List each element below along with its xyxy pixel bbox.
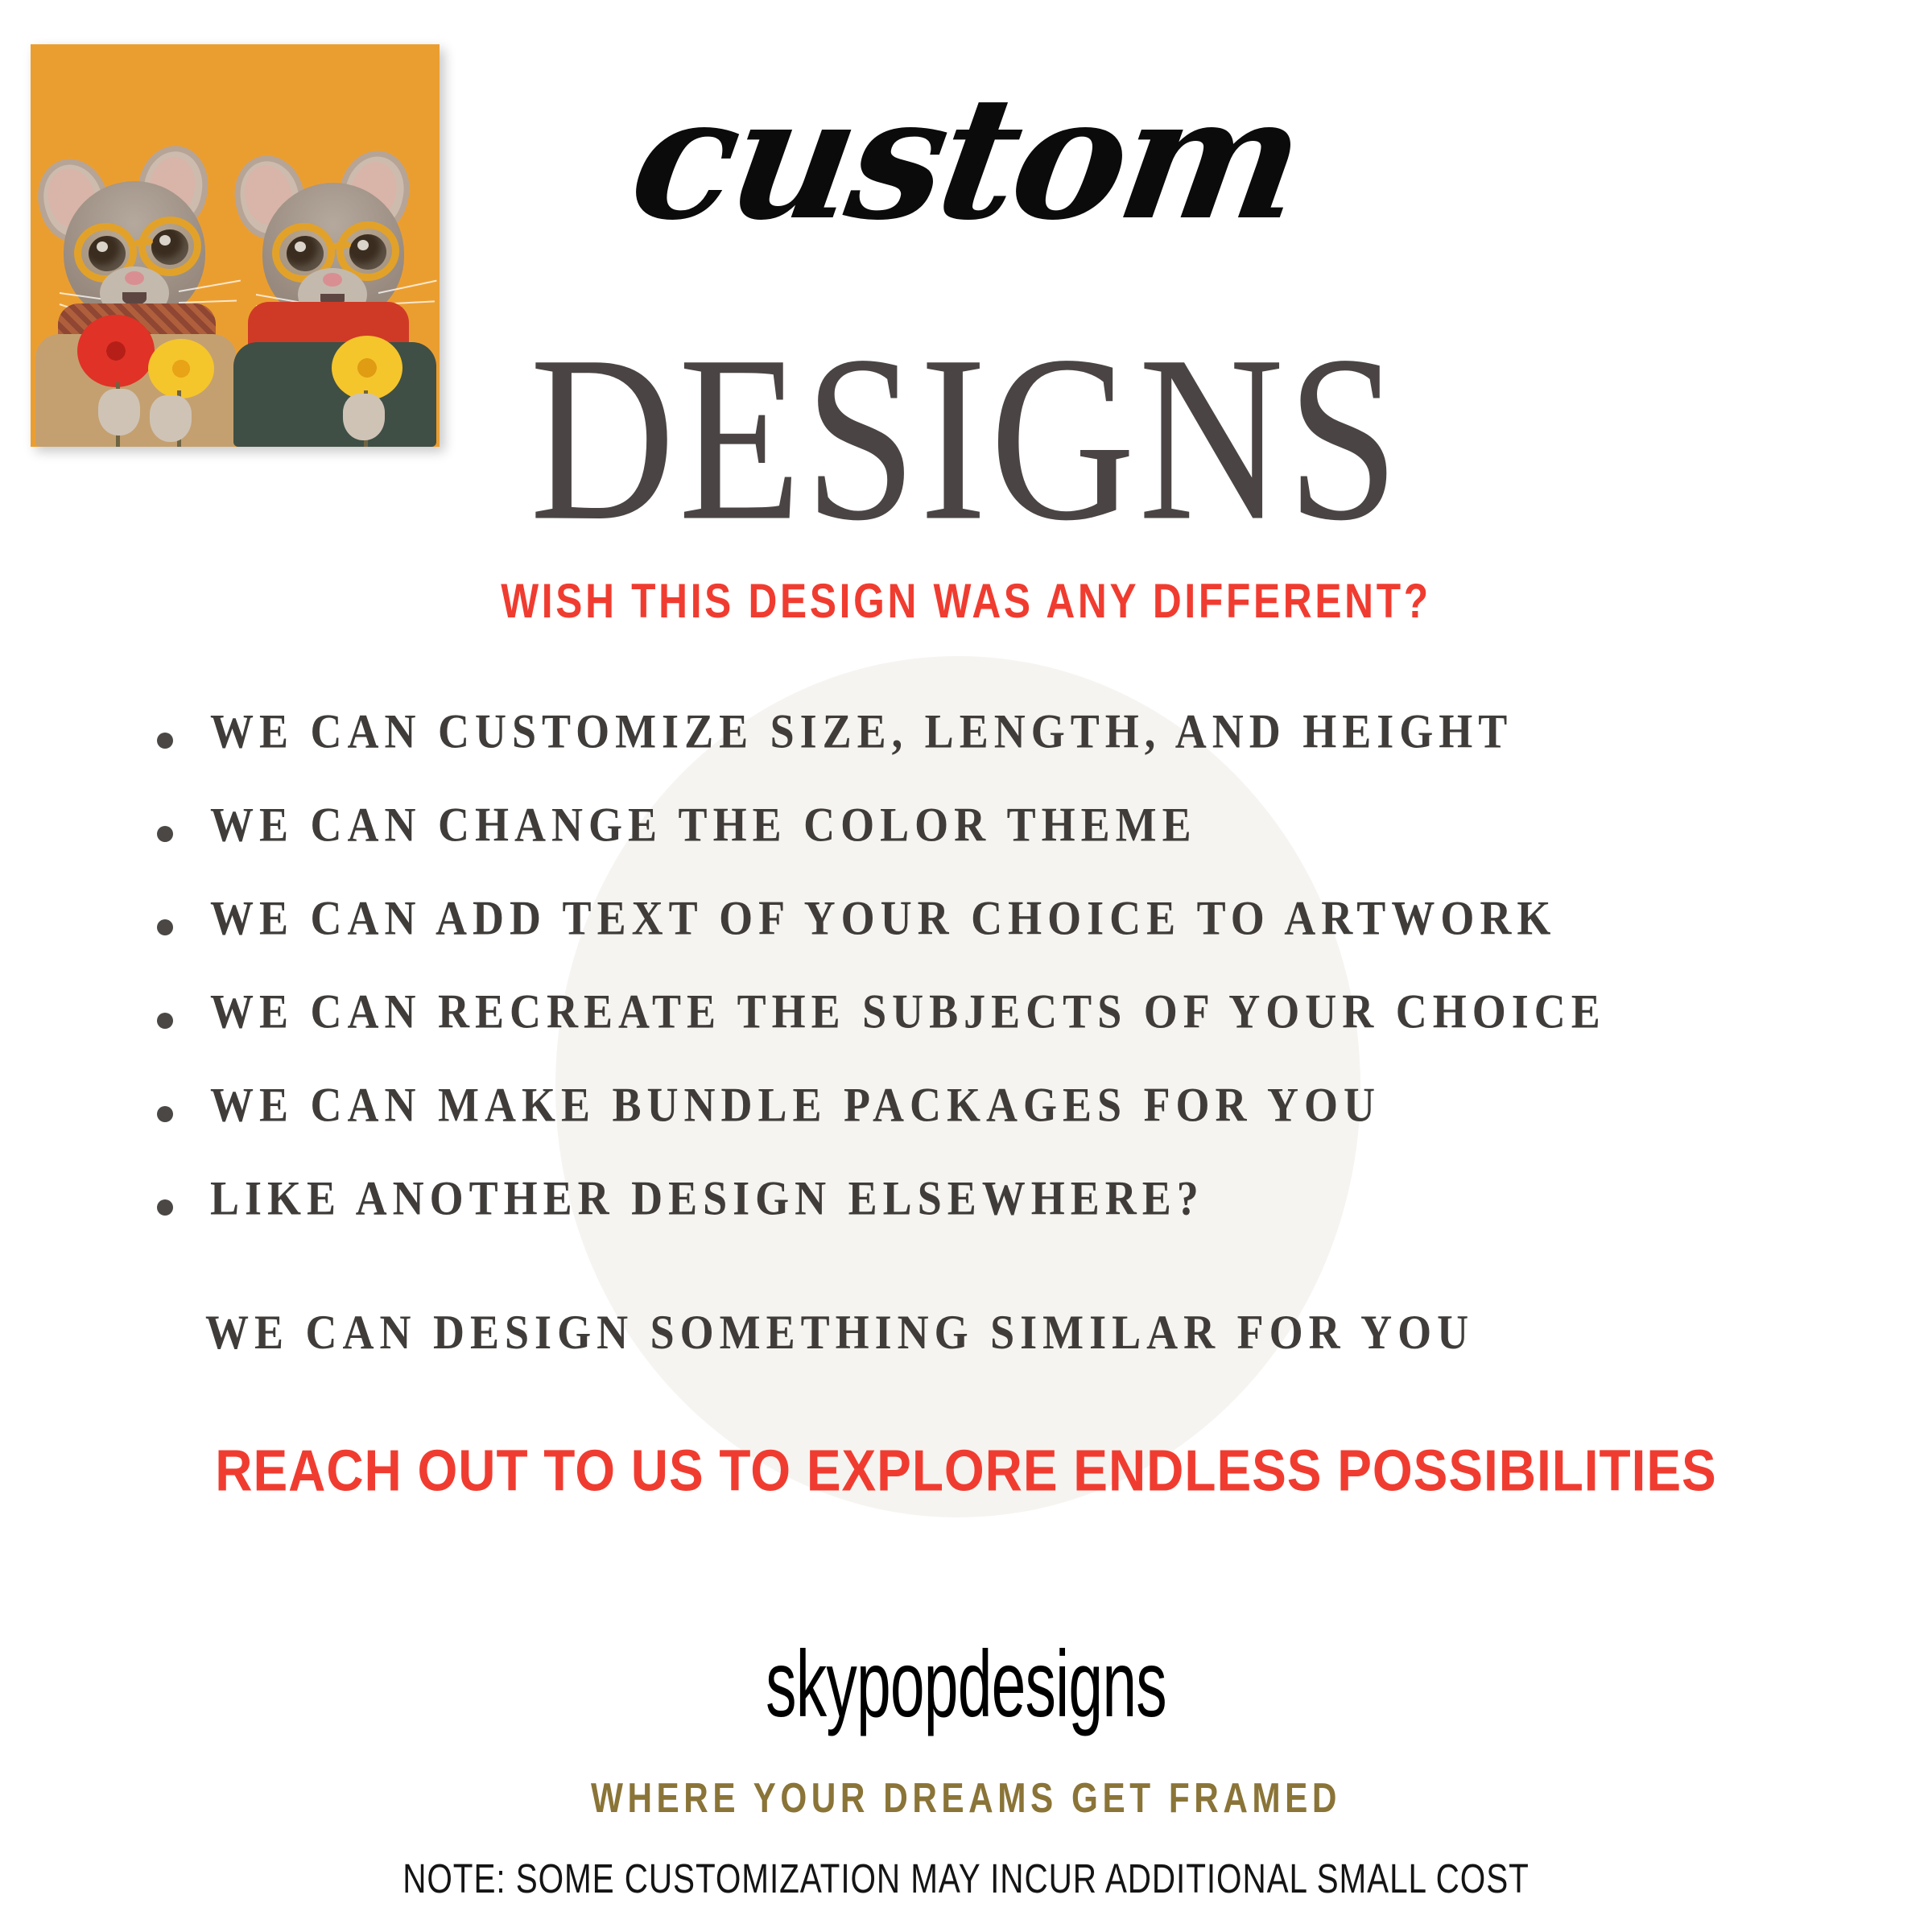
bullet-icon <box>157 919 173 935</box>
list-item: WE CAN CUSTOMIZE SIZE, LENGTH, AND HEIGH… <box>157 707 1847 800</box>
call-to-action-text[interactable]: REACH OUT TO US TO EXPLORE ENDLESS POSSI… <box>29 1436 1903 1504</box>
subheadline-question: WISH THIS DESIGN WAS ANY DIFFERENT? <box>77 573 1855 629</box>
bullet-icon <box>157 733 173 749</box>
feature-label: LIKE ANOTHER DESIGN ELSEWHERE? <box>210 1174 1204 1222</box>
red-flower <box>77 315 155 387</box>
feature-label: WE CAN CHANGE THE COLOR THEME <box>210 800 1197 848</box>
brand-logo-text: skypopdesigns <box>193 1631 1739 1739</box>
bullet-icon <box>157 1199 173 1216</box>
mouse-right-illustration <box>230 68 436 447</box>
feature-label: WE CAN CUSTOMIZE SIZE, LENGTH, AND HEIGH… <box>210 707 1513 755</box>
feature-label: WE CAN MAKE BUNDLE PACKAGES FOR YOU <box>210 1080 1381 1129</box>
footer-note: NOTE: SOME CUSTOMIZATION MAY INCUR ADDIT… <box>77 1856 1855 1903</box>
feature-list: WE CAN CUSTOMIZE SIZE, LENGTH, AND HEIGH… <box>157 707 1847 1267</box>
list-item: WE CAN CHANGE THE COLOR THEME <box>157 800 1847 894</box>
list-item: WE CAN RECREATE THE SUBJECTS OF YOUR CHO… <box>157 987 1847 1080</box>
mouse-left-illustration <box>35 68 237 447</box>
feature-label: WE CAN RECREATE THE SUBJECTS OF YOUR CHO… <box>210 987 1606 1035</box>
list-item: WE CAN ADD TEXT OF YOUR CHOICE TO ARTWOR… <box>157 894 1847 987</box>
bullet-icon <box>157 1013 173 1029</box>
bullet-icon <box>157 1106 173 1122</box>
product-thumbnail-image[interactable] <box>31 44 440 447</box>
list-item: LIKE ANOTHER DESIGN ELSEWHERE? <box>157 1174 1847 1267</box>
brand-tagline: WHERE YOUR DREAMS GET FRAMED <box>77 1773 1855 1822</box>
bullet-icon <box>157 826 173 842</box>
list-item: WE CAN MAKE BUNDLE PACKAGES FOR YOU <box>157 1080 1847 1174</box>
feature-continuation-line: WE CAN DESIGN SOMETHING SIMILAR FOR YOU <box>205 1304 1474 1360</box>
feature-label: WE CAN ADD TEXT OF YOUR CHOICE TO ARTWOR… <box>210 894 1556 942</box>
yellow-flower-left <box>148 339 214 398</box>
